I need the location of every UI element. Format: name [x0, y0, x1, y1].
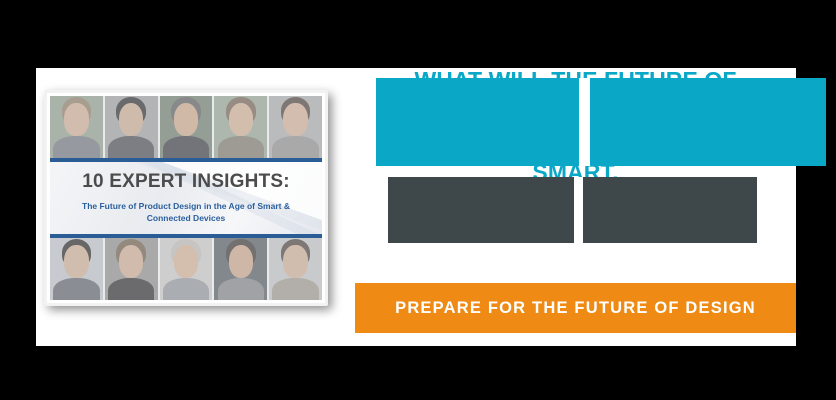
ebook-cover: 10 EXPERT INSIGHTS: The Future of Produc…: [44, 90, 328, 306]
headshot-3-shoulders: [163, 136, 209, 158]
headshot-7-background: [105, 238, 158, 300]
headshot-row-bottom: [50, 238, 322, 300]
headshot-1-hair: [62, 97, 92, 124]
headshot-6-face: [64, 245, 88, 277]
headshot-3: [160, 96, 213, 158]
headshot-1-face: [64, 103, 88, 135]
headshot-4-face: [229, 103, 253, 135]
body-overlay-block: [388, 177, 757, 243]
headshot-8-face: [174, 245, 198, 277]
headshot-7: [105, 238, 158, 300]
cta-button[interactable]: PREPARE FOR THE FUTURE OF DESIGN: [355, 283, 796, 333]
headshot-10-face: [283, 245, 307, 277]
headshot-1-shoulders: [53, 136, 99, 158]
headshot-6: [50, 238, 103, 300]
headshot-10: [269, 238, 322, 300]
headshot-10-background: [269, 238, 322, 300]
headshot-8: [160, 238, 213, 300]
headshot-7-hair: [116, 239, 146, 266]
headshot-10-hair: [281, 239, 311, 266]
headshot-3-face: [174, 103, 198, 135]
headshot-8-shoulders: [163, 278, 209, 300]
headshot-5: [269, 96, 322, 158]
headshot-1-background: [50, 96, 103, 158]
headshot-3-background: [160, 96, 213, 158]
headline-overlay-block: [376, 78, 826, 166]
headshot-4-shoulders: [218, 136, 264, 158]
headshot-6-shoulders: [53, 278, 99, 300]
headshot-9: [214, 238, 267, 300]
headline-overlay-gap: [579, 78, 590, 166]
ebook-cover-inner: 10 EXPERT INSIGHTS: The Future of Produc…: [50, 96, 322, 300]
headshot-2: [105, 96, 158, 158]
cta-card: 10 EXPERT INSIGHTS: The Future of Produc…: [36, 68, 796, 346]
headshot-2-face: [119, 103, 143, 135]
promo-content: WHAT WILL THE FUTURE OF PRODUCT DESIGN L…: [355, 68, 796, 346]
headshot-5-face: [283, 103, 307, 135]
headshot-6-background: [50, 238, 103, 300]
headshot-9-background: [214, 238, 267, 300]
headshot-1: [50, 96, 103, 158]
headshot-5-hair: [281, 97, 311, 124]
ebook-subtitle: The Future of Product Design in the Age …: [79, 200, 294, 225]
headshot-4: [214, 96, 267, 158]
promo-banner: 10 EXPERT INSIGHTS: The Future of Produc…: [0, 0, 836, 400]
headshot-9-face: [229, 245, 253, 277]
headshot-9-shoulders: [218, 278, 264, 300]
headshot-8-background: [160, 238, 213, 300]
headshot-2-background: [105, 96, 158, 158]
headshot-9-hair: [226, 239, 256, 266]
headshot-5-shoulders: [272, 136, 318, 158]
headshot-row-top: [50, 96, 322, 158]
headshot-8-hair: [171, 239, 201, 266]
headshot-7-shoulders: [108, 278, 154, 300]
headshot-6-hair: [62, 239, 92, 266]
headshot-4-hair: [226, 97, 256, 124]
ebook-title: 10 EXPERT INSIGHTS:: [82, 172, 290, 193]
ebook-cover-center-band: 10 EXPERT INSIGHTS: The Future of Produc…: [50, 158, 322, 238]
headshot-4-background: [214, 96, 267, 158]
headshot-3-hair: [171, 97, 201, 124]
headshot-2-hair: [116, 97, 146, 124]
headshot-10-shoulders: [272, 278, 318, 300]
headshot-2-shoulders: [108, 136, 154, 158]
body-overlay-gap: [574, 177, 583, 243]
ebook-cover-image: 10 EXPERT INSIGHTS: The Future of Produc…: [44, 90, 334, 312]
headshot-5-background: [269, 96, 322, 158]
headshot-7-face: [119, 245, 143, 277]
